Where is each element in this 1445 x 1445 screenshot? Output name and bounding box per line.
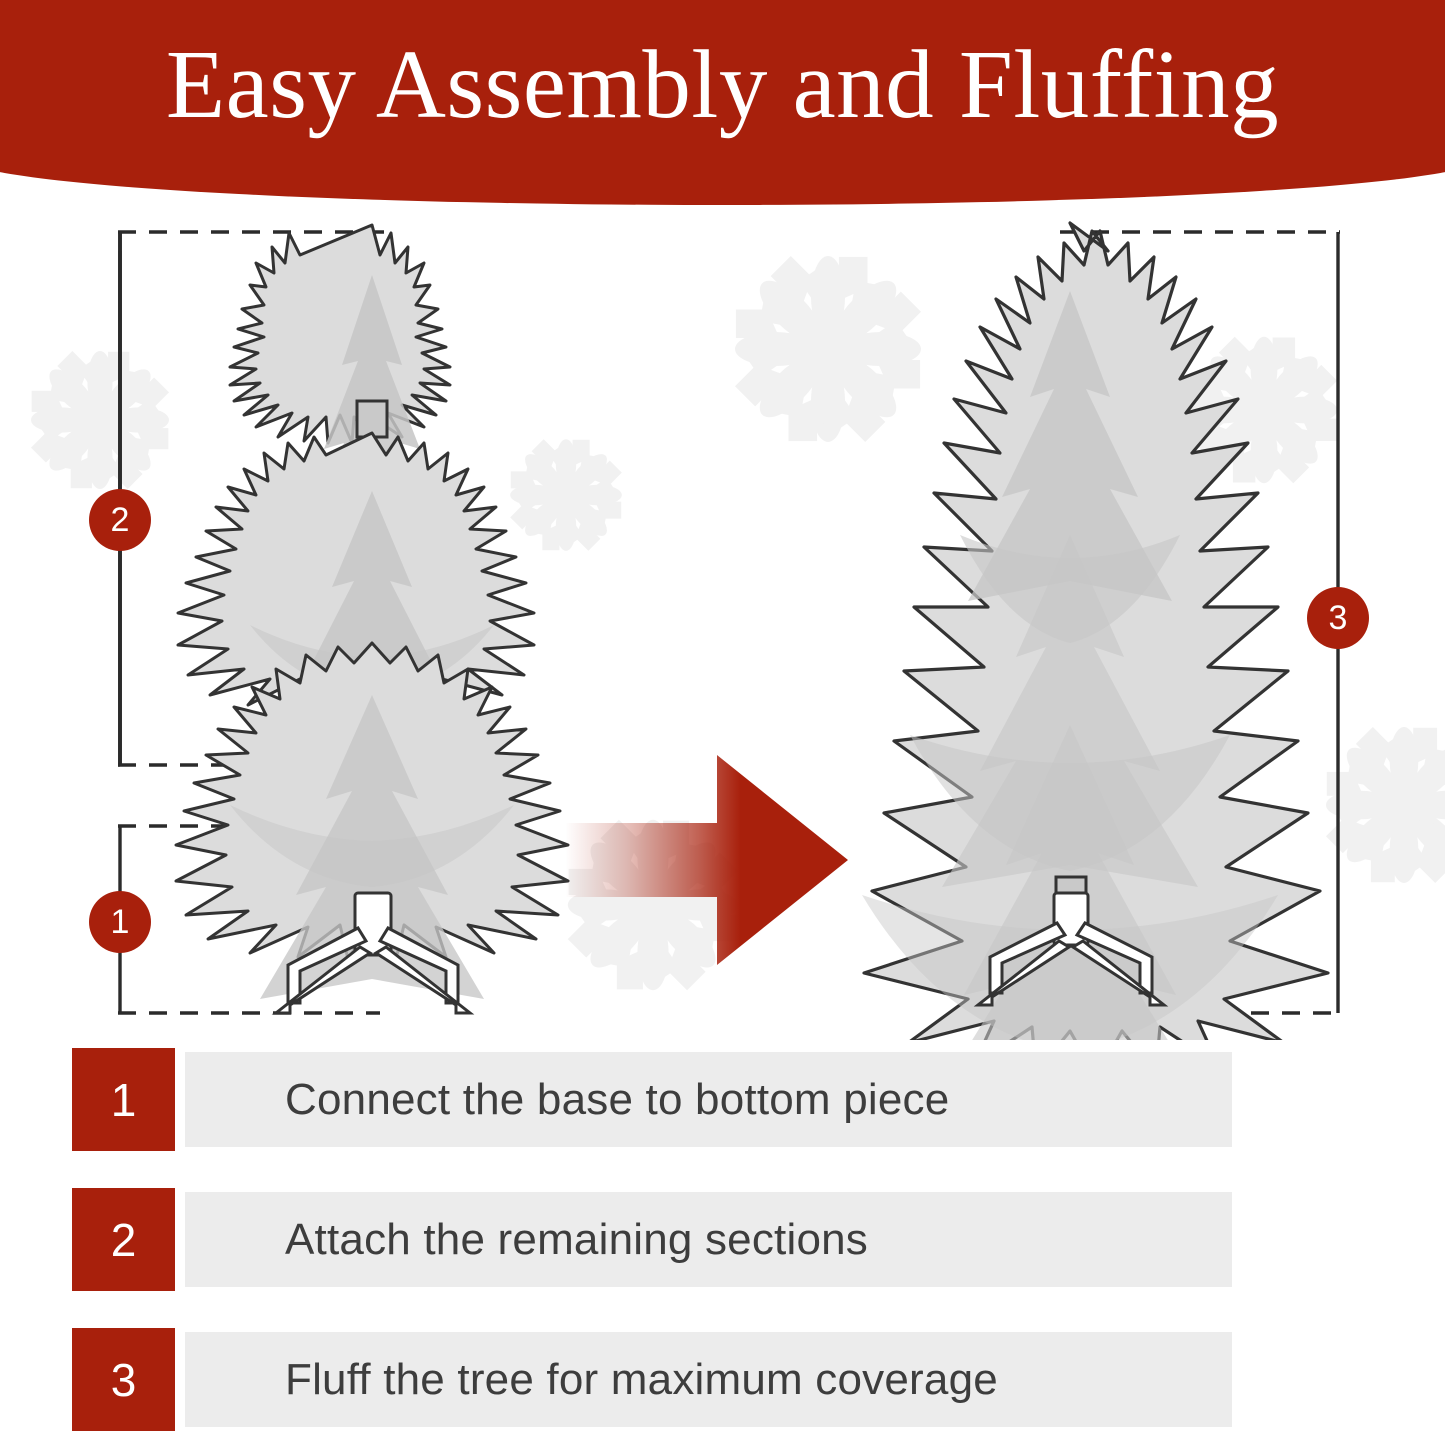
step-row-1: 1 Connect the base to bottom piece xyxy=(72,1048,1232,1151)
assembly-diagram: 2 1 3 xyxy=(0,205,1445,1040)
step-3-text: Fluff the tree for maximum coverage xyxy=(185,1355,998,1405)
marker-3-label: 3 xyxy=(1329,599,1348,637)
page-title: Easy Assembly and Fluffing xyxy=(0,36,1445,133)
step-1-number: 1 xyxy=(72,1048,175,1151)
assembly-steps-list: 1 Connect the base to bottom piece 2 Att… xyxy=(0,1040,1445,1445)
step-1-bar: Connect the base to bottom piece xyxy=(185,1052,1232,1147)
tree-bottom-section xyxy=(176,643,568,1040)
step-1-text: Connect the base to bottom piece xyxy=(185,1075,949,1125)
step-2-number: 2 xyxy=(72,1188,175,1291)
marker-3[interactable]: 3 xyxy=(1307,587,1369,649)
marker-1-label: 1 xyxy=(111,903,130,941)
step-row-3: 3 Fluff the tree for maximum coverage xyxy=(72,1328,1232,1431)
marker-1[interactable]: 1 xyxy=(89,891,151,953)
step-row-2: 2 Attach the remaining sections xyxy=(72,1188,1232,1291)
header-banner: Easy Assembly and Fluffing xyxy=(0,0,1445,205)
step-3-bar: Fluff the tree for maximum coverage xyxy=(185,1332,1232,1427)
marker-2-label: 2 xyxy=(111,501,130,539)
tree-sections-illustration xyxy=(176,225,568,1040)
step-2-text: Attach the remaining sections xyxy=(185,1215,868,1265)
step-2-bar: Attach the remaining sections xyxy=(185,1192,1232,1287)
marker-2[interactable]: 2 xyxy=(89,489,151,551)
step-3-number: 3 xyxy=(72,1328,175,1431)
